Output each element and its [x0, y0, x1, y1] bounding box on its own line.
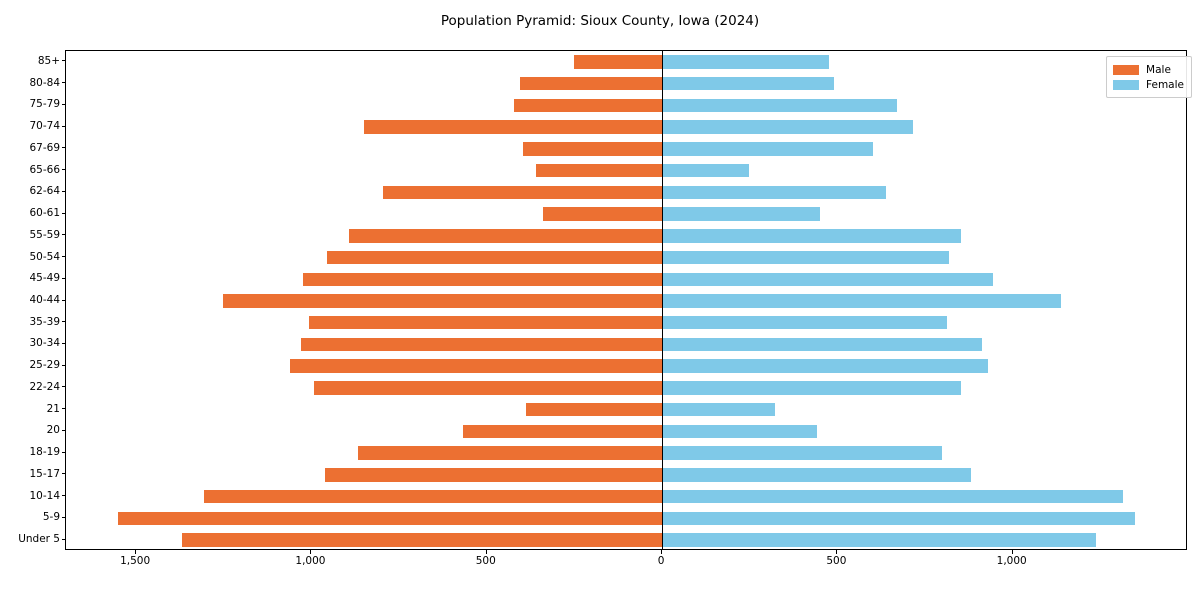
bar-male	[204, 490, 662, 503]
bar-row	[66, 338, 1186, 351]
bar-male	[543, 207, 662, 220]
bar-male	[309, 316, 662, 329]
x-axis-tick-mark	[1012, 550, 1013, 554]
bar-row	[66, 142, 1186, 155]
y-axis-tick-label: 25-29	[29, 358, 60, 372]
legend-label-male: Male	[1146, 64, 1171, 76]
bar-female	[662, 533, 1096, 546]
bar-female	[662, 338, 982, 351]
bar-female	[662, 294, 1061, 307]
x-axis-tick-label: 1,500	[120, 555, 150, 567]
bar-female	[662, 164, 749, 177]
bar-female	[662, 186, 886, 199]
legend-label-female: Female	[1146, 79, 1184, 91]
bar-male	[290, 359, 662, 372]
bar-female	[662, 446, 941, 459]
bar-female	[662, 468, 971, 481]
bar-row	[66, 186, 1186, 199]
x-axis-tick-label: 1,000	[997, 555, 1027, 567]
y-axis-tick-label: 21	[47, 402, 60, 416]
bar-female	[662, 207, 820, 220]
bar-row	[66, 55, 1186, 68]
bar-female	[662, 229, 961, 242]
y-axis-tick-label: 40-44	[29, 293, 60, 307]
y-axis-tick-label: 45-49	[29, 271, 60, 285]
bar-female	[662, 359, 988, 372]
bar-row	[66, 273, 1186, 286]
y-axis-tick-label: 80-84	[29, 76, 60, 90]
bar-female	[662, 251, 948, 264]
bar-female	[662, 490, 1123, 503]
zero-axis-line	[662, 51, 663, 549]
bar-female	[662, 403, 775, 416]
bar-row	[66, 446, 1186, 459]
bar-row	[66, 533, 1186, 546]
bar-row	[66, 120, 1186, 133]
x-axis-tick-label: 1,000	[295, 555, 325, 567]
bar-male	[325, 468, 662, 481]
legend-swatch-female-icon	[1113, 80, 1139, 90]
y-axis-tick-label: 62-64	[29, 184, 60, 198]
y-axis-tick-label: 22-24	[29, 380, 60, 394]
bar-male	[314, 381, 663, 394]
y-axis-tick-label: 30-34	[29, 336, 60, 350]
x-axis: 1,5001,00050005001,000	[65, 550, 1187, 590]
bar-row	[66, 99, 1186, 112]
bar-female	[662, 273, 993, 286]
bars-layer	[66, 51, 1186, 549]
bar-male	[223, 294, 662, 307]
bar-row	[66, 294, 1186, 307]
bar-female	[662, 381, 961, 394]
bar-row	[66, 207, 1186, 220]
chart-figure: Population Pyramid: Sioux County, Iowa (…	[0, 0, 1200, 600]
x-axis-tick-mark	[486, 550, 487, 554]
bar-female	[662, 120, 913, 133]
bar-row	[66, 512, 1186, 525]
bar-male	[364, 120, 662, 133]
y-axis-tick-label: 35-39	[29, 315, 60, 329]
x-axis-tick-mark	[135, 550, 136, 554]
chart-legend: Male Female	[1106, 56, 1192, 98]
y-axis-tick-label: 10-14	[29, 489, 60, 503]
bar-row	[66, 425, 1186, 438]
legend-entry-female[interactable]: Female	[1113, 77, 1184, 92]
bar-row	[66, 77, 1186, 90]
y-axis-tick-label: Under 5	[18, 532, 60, 546]
bar-male	[520, 77, 662, 90]
bar-male	[526, 403, 662, 416]
bar-row	[66, 359, 1186, 372]
bar-male	[303, 273, 662, 286]
bar-row	[66, 164, 1186, 177]
bar-male	[327, 251, 663, 264]
bar-female	[662, 99, 897, 112]
bar-male	[358, 446, 662, 459]
y-axis-tick-label: 18-19	[29, 445, 60, 459]
y-axis-tick-label: 15-17	[29, 467, 60, 481]
bar-female	[662, 55, 829, 68]
x-axis-tick-label: 0	[658, 555, 665, 567]
bar-male	[349, 229, 662, 242]
bar-female	[662, 77, 834, 90]
bar-male	[463, 425, 662, 438]
y-axis: 85+80-8475-7970-7467-6965-6662-6460-6155…	[0, 50, 65, 550]
x-axis-tick-mark	[836, 550, 837, 554]
bar-male	[574, 55, 662, 68]
bar-male	[182, 533, 662, 546]
y-axis-tick-label: 70-74	[29, 119, 60, 133]
bar-male	[514, 99, 662, 112]
legend-entry-male[interactable]: Male	[1113, 62, 1184, 77]
x-axis-tick-mark	[310, 550, 311, 554]
bar-female	[662, 142, 873, 155]
bar-male	[301, 338, 662, 351]
bar-female	[662, 425, 817, 438]
y-axis-tick-label: 20	[47, 423, 60, 437]
bar-row	[66, 251, 1186, 264]
bar-row	[66, 403, 1186, 416]
y-axis-tick-label: 50-54	[29, 250, 60, 264]
y-axis-tick-label: 55-59	[29, 228, 60, 242]
bar-male	[523, 142, 662, 155]
y-axis-tick-label: 85+	[38, 54, 60, 68]
bar-female	[662, 512, 1135, 525]
y-axis-tick-label: 67-69	[29, 141, 60, 155]
y-axis-tick-label: 75-79	[29, 97, 60, 111]
bar-row	[66, 490, 1186, 503]
y-axis-tick-label: 60-61	[29, 206, 60, 220]
bar-male	[536, 164, 662, 177]
bar-row	[66, 381, 1186, 394]
plot-area	[65, 50, 1187, 550]
x-axis-tick-mark	[661, 550, 662, 554]
legend-swatch-male-icon	[1113, 65, 1139, 75]
bar-male	[383, 186, 662, 199]
bar-female	[662, 316, 947, 329]
bar-row	[66, 468, 1186, 481]
bar-row	[66, 229, 1186, 242]
y-axis-tick-label: 5-9	[43, 510, 60, 524]
x-axis-tick-label: 500	[826, 555, 846, 567]
bar-row	[66, 316, 1186, 329]
y-axis-tick-label: 65-66	[29, 163, 60, 177]
x-axis-tick-label: 500	[476, 555, 496, 567]
bar-male	[118, 512, 663, 525]
chart-title: Population Pyramid: Sioux County, Iowa (…	[0, 13, 1200, 29]
